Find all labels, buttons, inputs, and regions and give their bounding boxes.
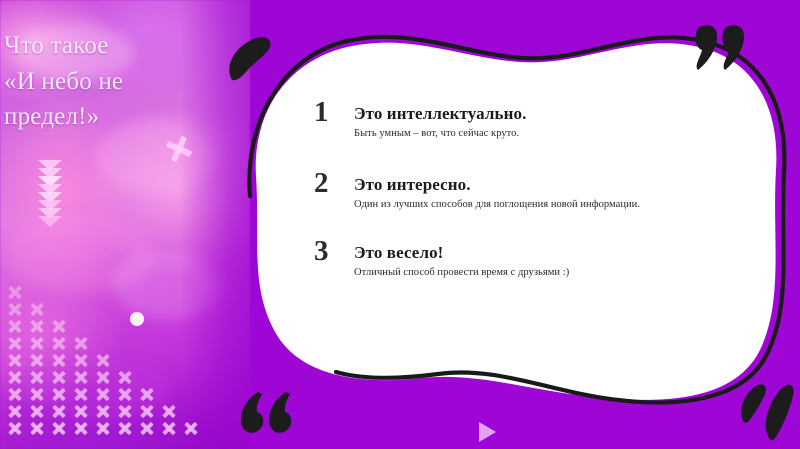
x-sparkle-icon: [140, 422, 153, 435]
x-sparkle-icon: [8, 354, 21, 367]
x-sparkle-icon: [30, 337, 43, 350]
chevron-column: [28, 160, 72, 224]
list-item-number: 2: [314, 169, 329, 198]
x-sparkle-icon: [96, 371, 109, 384]
list-item-title: Это интересно.: [354, 175, 726, 195]
x-sparkle-icon: [8, 337, 21, 350]
list-item-subtitle: Быть умным – вот, что сейчас круто.: [354, 127, 726, 140]
x-sparkle-icon: [8, 405, 21, 418]
x-sparkle-icon: [74, 405, 87, 418]
numbered-list: 1 Это интеллектуально. Быть умным – вот,…: [306, 104, 726, 280]
x-sparkle-icon: [8, 388, 21, 401]
list-item-number: 3: [314, 237, 329, 266]
list-item-title: Это интеллектуально.: [354, 104, 726, 124]
list-item-number: 1: [314, 98, 329, 127]
x-sparkle-icon: [52, 337, 65, 350]
x-sparkle-icon: [74, 422, 87, 435]
quote-close-icon: [692, 20, 750, 76]
x-sparkle-icon: [140, 388, 153, 401]
x-sparkle-icon: [30, 303, 43, 316]
list-item: 1 Это интеллектуально. Быть умным – вот,…: [306, 104, 726, 141]
list-item: 2 Это интересно. Один из лучших способов…: [306, 175, 726, 212]
x-sparkle-icon: [30, 320, 43, 333]
x-sparkle-icon: [96, 354, 109, 367]
page-title: Что такое «И небо не предел!»: [4, 28, 204, 135]
list-item-subtitle: Один из лучших способов для поглощения н…: [354, 198, 726, 211]
x-sparkle-icon: [8, 320, 21, 333]
x-sparkle-icon: [8, 286, 21, 299]
slide-canvas: Что такое «И небо не предел!»: [0, 0, 800, 449]
x-sparkle-icon: [52, 371, 65, 384]
x-sparkle-icon: [8, 303, 21, 316]
x-sparkle-icon: [140, 405, 153, 418]
list-item-subtitle: Отличный способ провести время с друзьям…: [354, 266, 726, 279]
quote-open-icon: [236, 388, 294, 436]
x-sparkle-icon: [8, 422, 21, 435]
x-sparkle-grid: [8, 286, 208, 446]
brush-stroke-icon: [736, 378, 798, 448]
x-sparkle-icon: [8, 371, 21, 384]
x-sparkle-icon: [118, 371, 131, 384]
x-sparkle-icon: [162, 405, 175, 418]
x-sparkle-icon: [74, 371, 87, 384]
brush-stroke-icon: [222, 22, 282, 92]
x-sparkle-icon: [30, 371, 43, 384]
x-sparkle-icon: [118, 422, 131, 435]
x-sparkle-icon: [52, 320, 65, 333]
x-sparkle-icon: [96, 405, 109, 418]
x-sparkle-icon: [184, 422, 197, 435]
x-sparkle-icon: [74, 354, 87, 367]
page-title-line-2: «И небо не: [4, 64, 204, 100]
x-sparkle-icon: [30, 388, 43, 401]
list-item-title: Это весело!: [354, 243, 726, 263]
x-sparkle-icon: [30, 422, 43, 435]
x-sparkle-icon: [30, 354, 43, 367]
x-sparkle-icon: [74, 337, 87, 350]
x-sparkle-icon: [118, 405, 131, 418]
x-sparkle-icon: [96, 388, 109, 401]
x-sparkle-icon: [30, 405, 43, 418]
x-sparkle-icon: [96, 422, 109, 435]
x-sparkle-icon: [118, 388, 131, 401]
x-sparkle-icon: [162, 422, 175, 435]
x-sparkle-icon: [74, 388, 87, 401]
x-sparkle-icon: [52, 388, 65, 401]
chevron-down-icon: [38, 216, 62, 227]
page-title-line-3: предел!»: [4, 99, 204, 135]
x-sparkle-icon: [52, 354, 65, 367]
x-sparkle-icon: [52, 405, 65, 418]
x-sparkle-icon: [52, 422, 65, 435]
list-item: 3 Это весело! Отличный способ провести в…: [306, 243, 726, 280]
page-title-line-1: Что такое: [4, 28, 204, 64]
